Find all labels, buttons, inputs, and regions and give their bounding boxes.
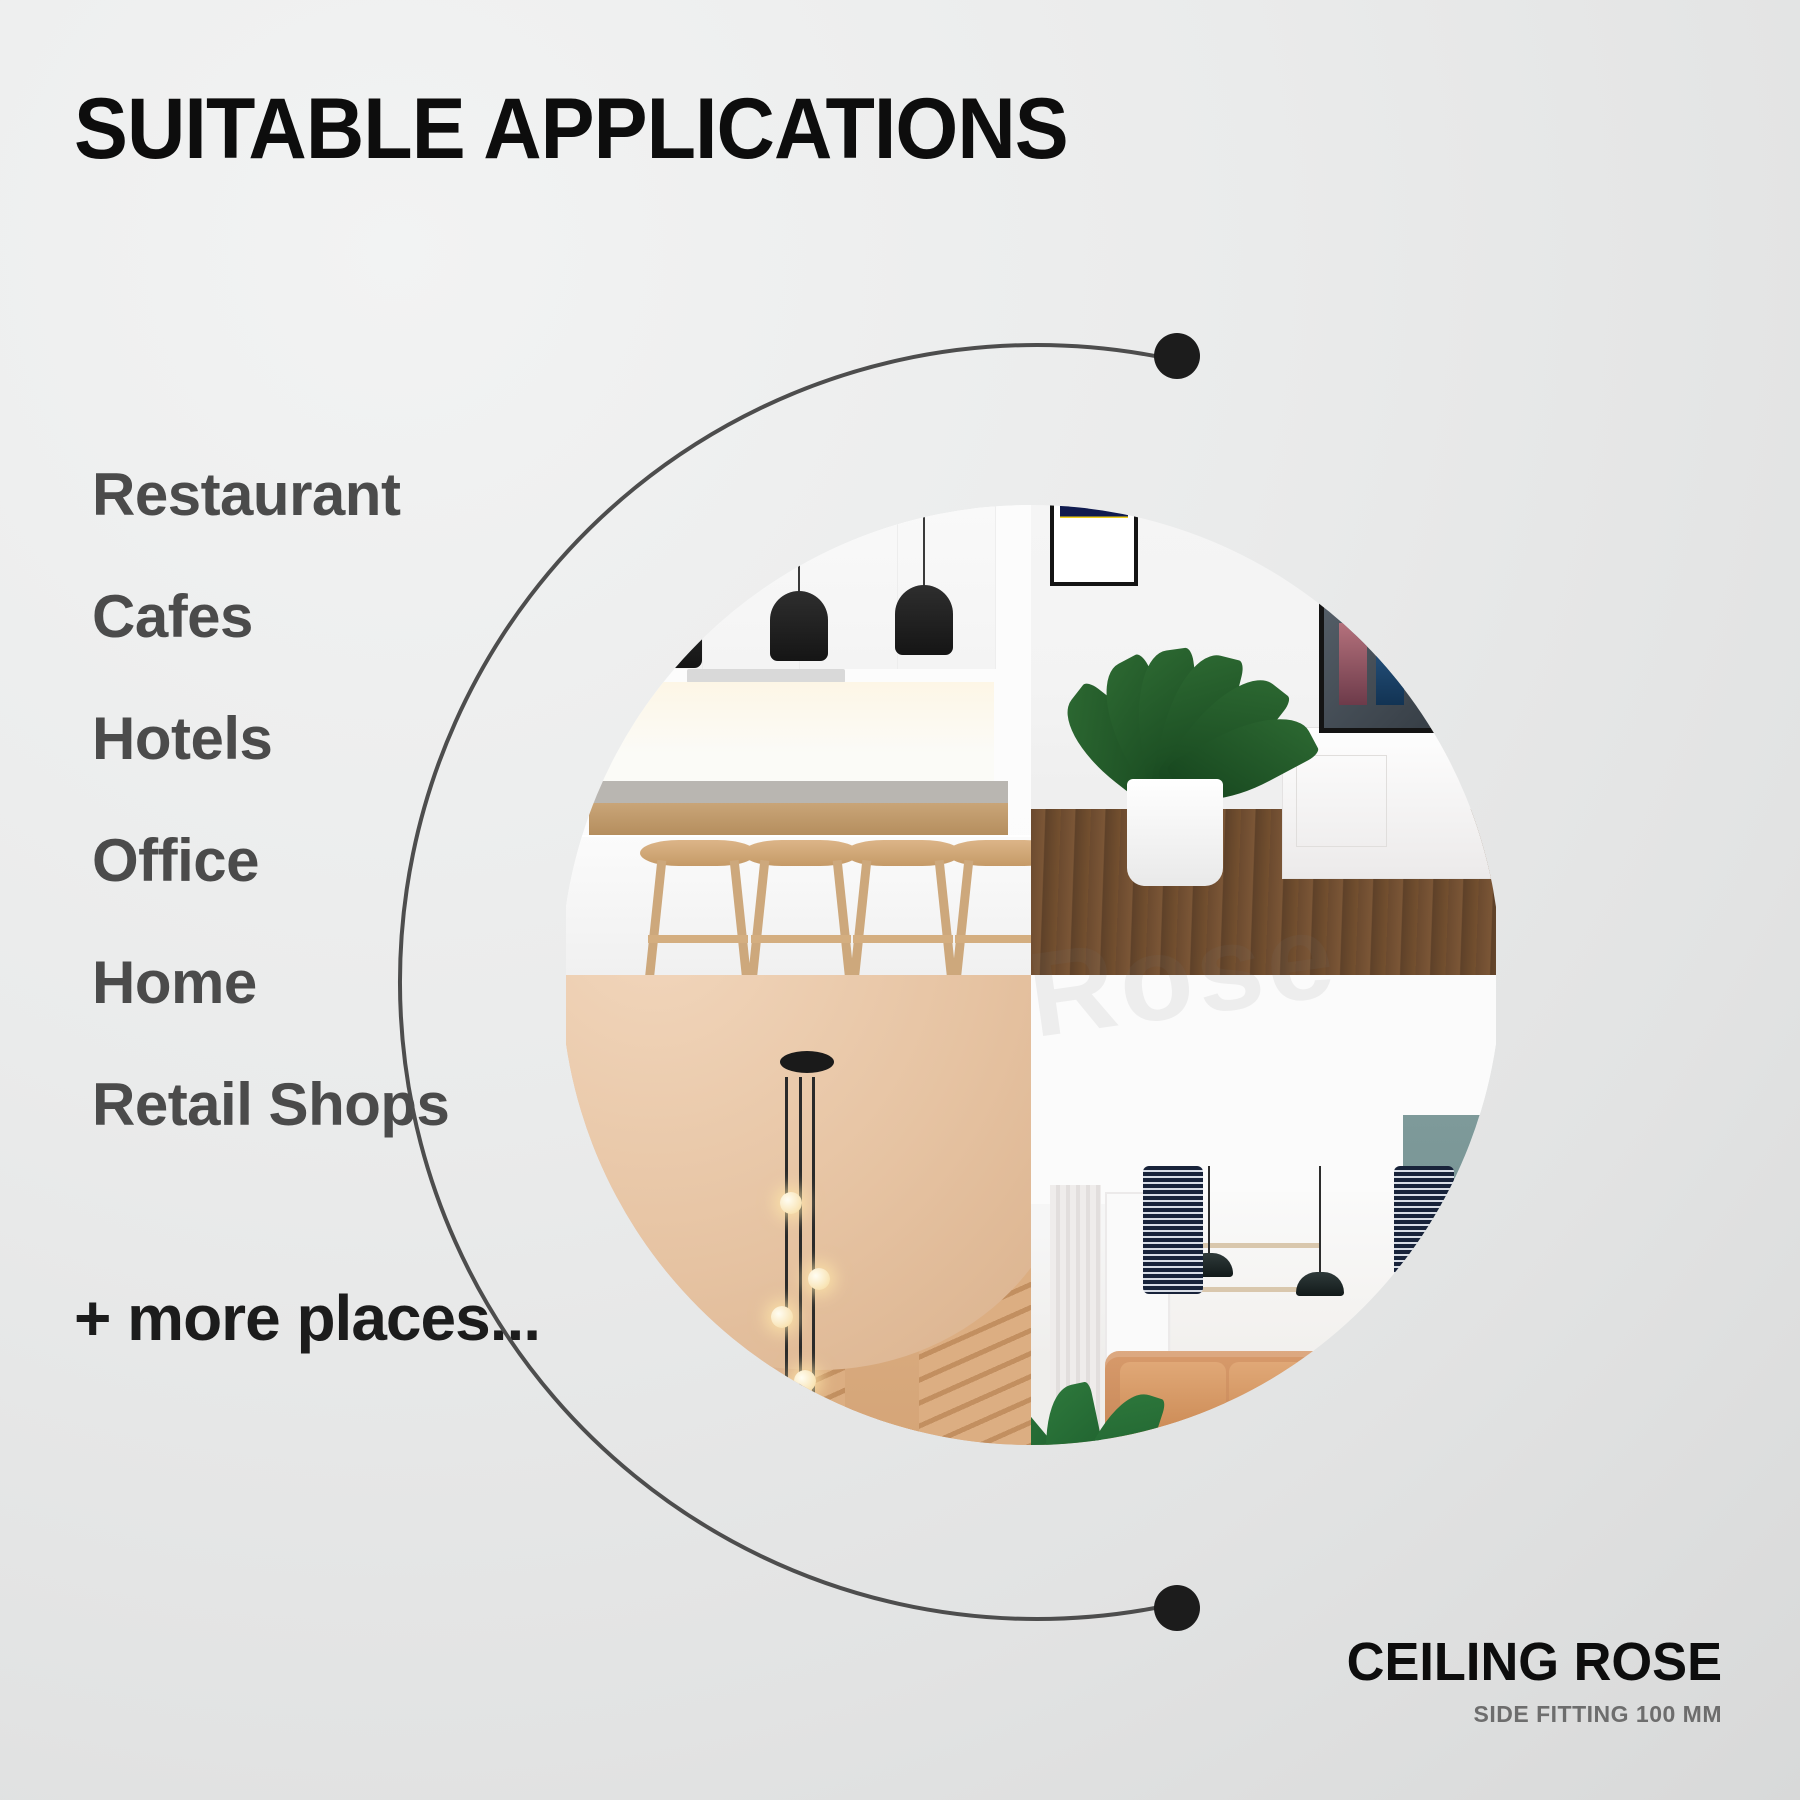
brand-subtitle: SIDE FITTING 100 MM <box>1335 1701 1722 1728</box>
orbit-arc <box>400 345 1165 1619</box>
brand-lockup: CEILING ROSE SIDE FITTING 100 MM <box>1335 1635 1722 1728</box>
brand-name: CEILING ROSE <box>1347 1635 1722 1689</box>
orbit-dot-top <box>1154 333 1200 379</box>
orbit-ring <box>0 0 1800 1800</box>
poster-canvas: SUITABLE APPLICATIONS Restaurant Cafes H… <box>0 0 1800 1800</box>
orbit-dot-bottom <box>1154 1585 1200 1631</box>
